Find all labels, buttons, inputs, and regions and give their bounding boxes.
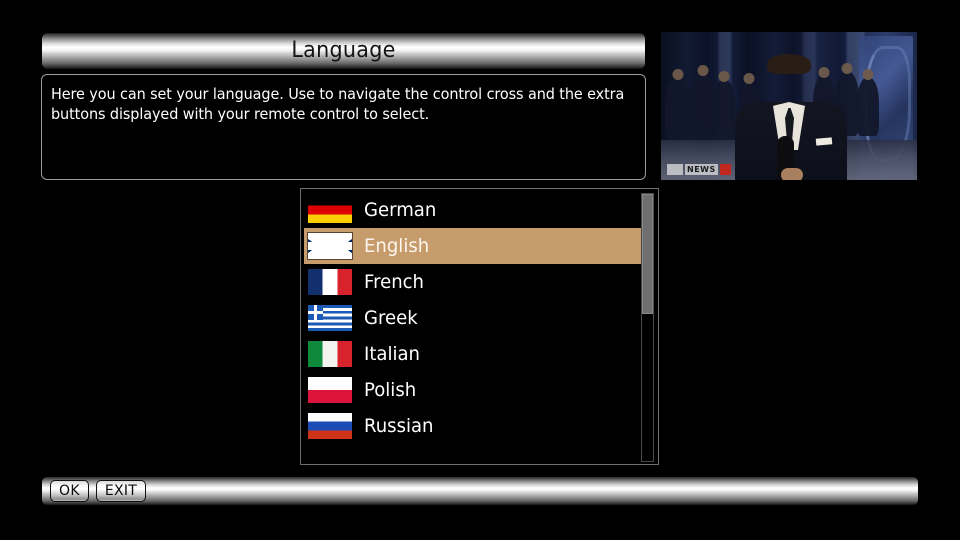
tv-settings-screen: Language Here you can set your language.… xyxy=(0,0,960,540)
flag-greece-icon xyxy=(308,305,352,331)
channel-bug-accent xyxy=(720,164,731,175)
page-title-bar: Language xyxy=(41,32,646,70)
language-row-russian[interactable]: Russian xyxy=(304,408,641,444)
video-preview[interactable]: NEWS xyxy=(661,32,917,180)
video-crowd-figure xyxy=(665,78,691,140)
bottom-action-bar: OKEXIT xyxy=(41,476,919,506)
language-label: French xyxy=(364,273,424,292)
language-label: Polish xyxy=(364,381,416,400)
flag-germany-icon xyxy=(308,197,352,223)
flag-united-kingdom-icon xyxy=(308,233,352,259)
list-scrollbar-track[interactable] xyxy=(641,193,654,462)
flag-poland-icon xyxy=(308,377,352,403)
description-panel: Here you can set your language. Use to n… xyxy=(41,74,646,180)
language-list-panel: GermanEnglishFrenchGreekItalianPolishRus… xyxy=(300,188,659,465)
language-row-german[interactable]: German xyxy=(304,192,641,228)
language-row-greek[interactable]: Greek xyxy=(304,300,641,336)
exit-button[interactable]: EXIT xyxy=(96,480,146,502)
description-text: Here you can set your language. Use to n… xyxy=(51,84,638,124)
flag-italy-icon xyxy=(308,341,352,367)
language-row-italian[interactable]: Italian xyxy=(304,336,641,372)
video-crowd-figure xyxy=(691,74,715,140)
page-title: Language xyxy=(291,40,395,62)
list-scrollbar-thumb[interactable] xyxy=(642,194,653,314)
video-crowd-figure xyxy=(713,80,735,140)
video-reporter-hand xyxy=(781,168,803,180)
flag-russia-icon xyxy=(308,413,352,439)
language-row-french[interactable]: French xyxy=(304,264,641,300)
channel-bug-text: NEWS xyxy=(685,164,718,175)
language-row-english[interactable]: English xyxy=(304,228,641,264)
ok-button[interactable]: OK xyxy=(50,480,89,502)
language-list[interactable]: GermanEnglishFrenchGreekItalianPolishRus… xyxy=(304,192,641,463)
language-label: German xyxy=(364,201,436,220)
language-label: Italian xyxy=(364,345,420,364)
language-label: Greek xyxy=(364,309,418,328)
language-label: Russian xyxy=(364,417,433,436)
channel-logo-bug: NEWS xyxy=(667,164,741,175)
video-crowd-figure xyxy=(857,78,879,136)
language-label: English xyxy=(364,237,429,256)
flag-france-icon xyxy=(308,269,352,295)
video-reporter-hair xyxy=(767,54,811,74)
video-reporter-pocket-square xyxy=(816,137,833,145)
language-row-polish[interactable]: Polish xyxy=(304,372,641,408)
